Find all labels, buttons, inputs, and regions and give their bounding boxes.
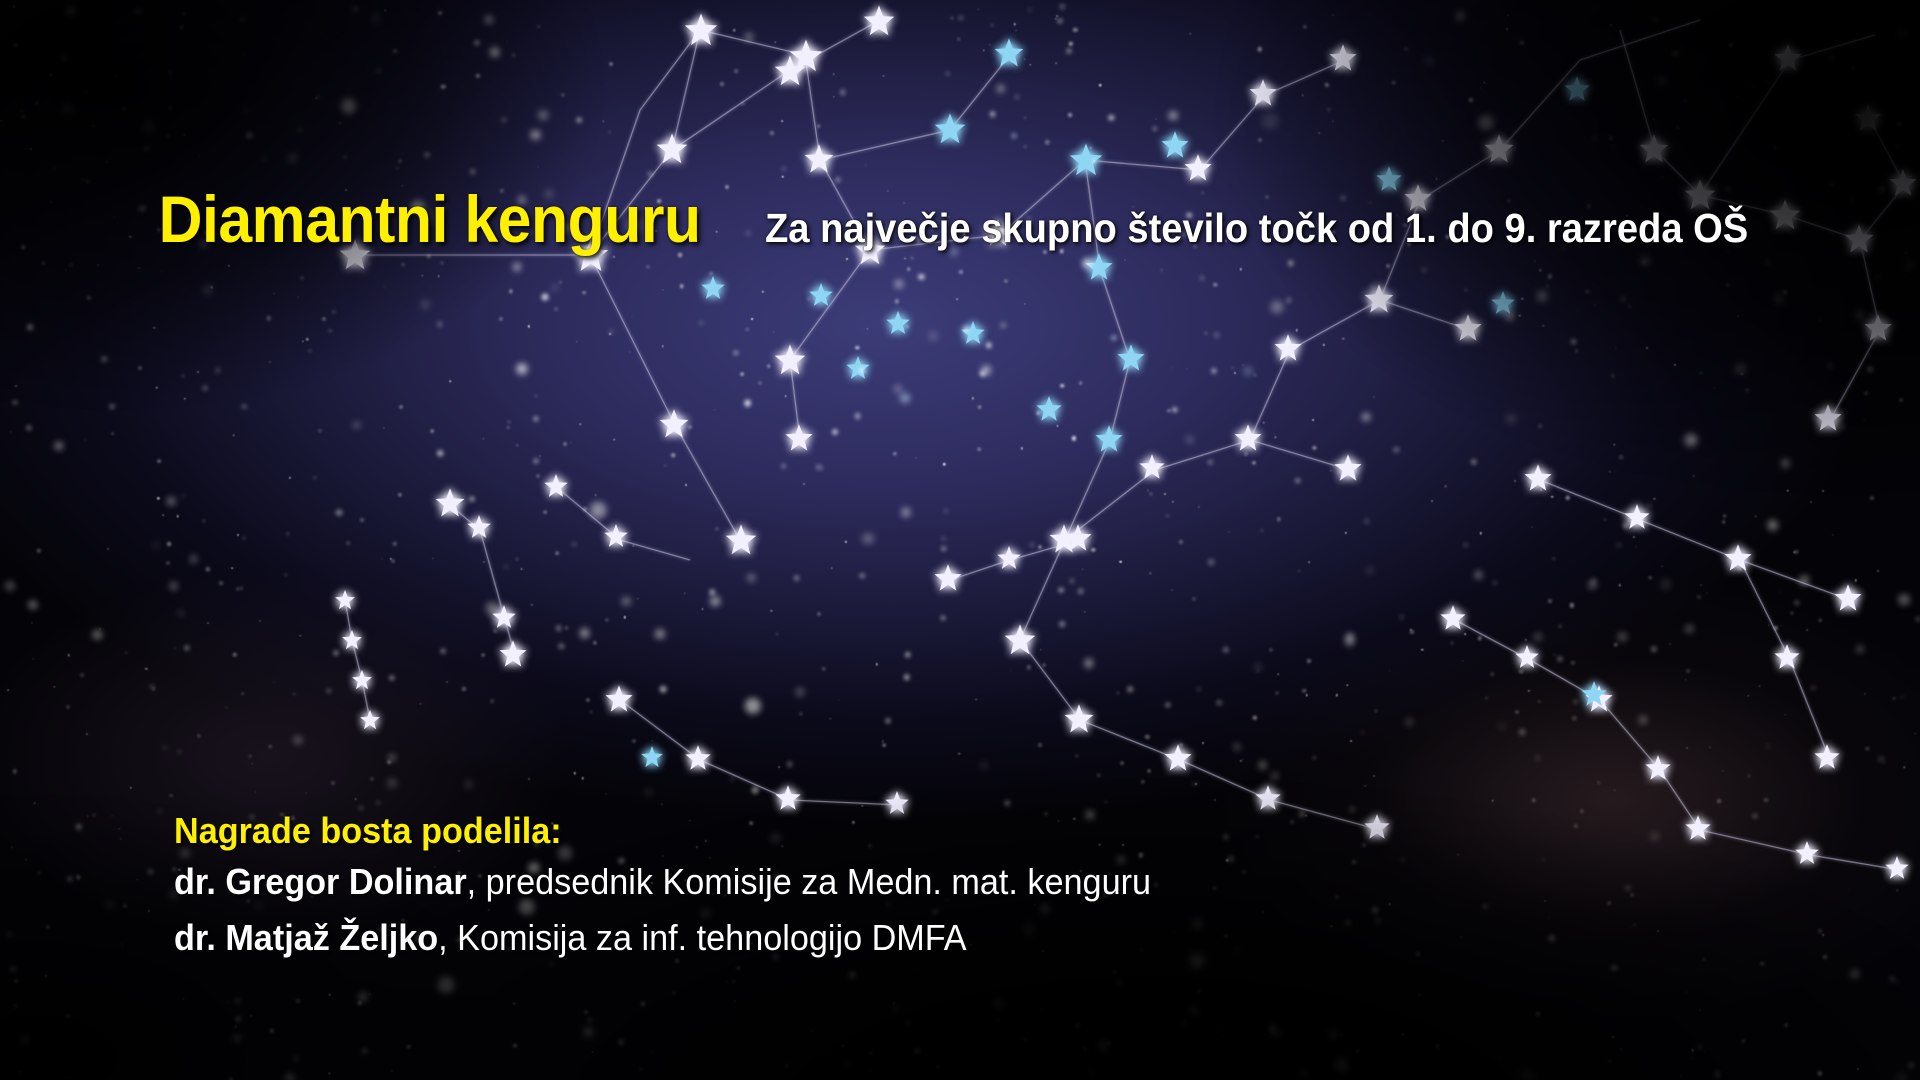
slide-canvas: Diamantni kenguru Za največje skupno šte… — [0, 0, 1920, 1080]
sky-vignette — [0, 0, 1920, 1080]
